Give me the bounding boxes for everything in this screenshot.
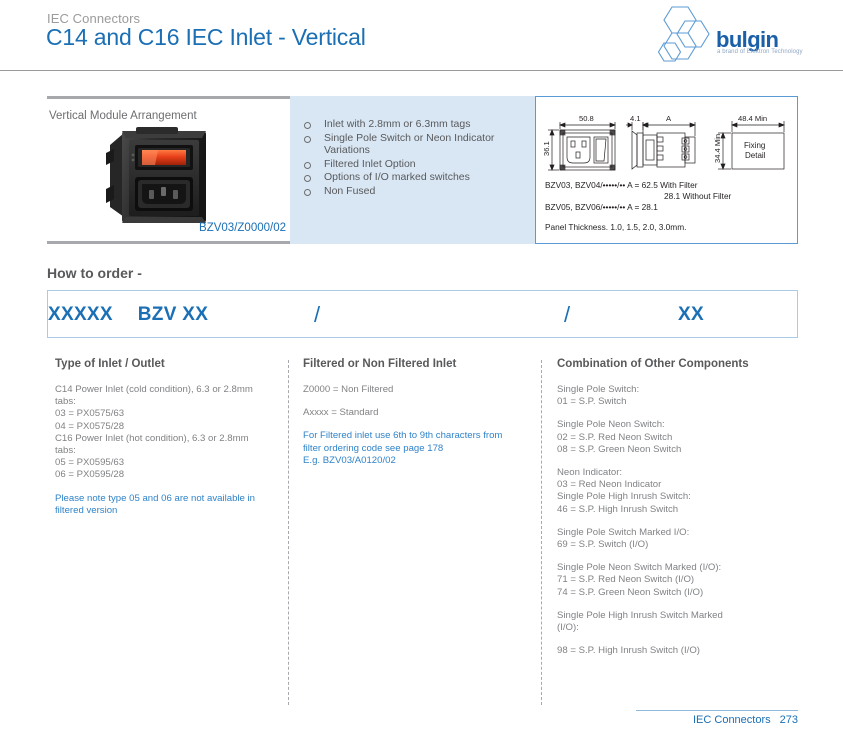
order-segment-filter: XXXXX <box>48 291 113 339</box>
fixing-detail-line2: Detail <box>745 151 766 160</box>
drawing-note-4: Panel Thickness. 1.0, 1.5, 2.0, 3.0mm. <box>545 222 686 232</box>
features-panel: Inlet with 2.8mm or 6.3mm tags Single Po… <box>290 96 535 244</box>
product-panel: Vertical Module Arrangement <box>47 96 290 244</box>
footer-page-number: 273 <box>780 714 798 726</box>
circle-bullet-icon <box>304 122 311 129</box>
dim-depth-label: A <box>666 114 672 123</box>
column-block: 98 = S.P. High Inrush Switch (I/O) <box>557 645 807 657</box>
order-separator-1: / <box>298 291 336 339</box>
features-list: Inlet with 2.8mm or 6.3mm tags Single Po… <box>304 118 524 199</box>
column-title: Filtered or Non Filtered Inlet <box>303 358 533 370</box>
dim-cutout-width-label: 48.4 Min <box>738 114 767 123</box>
column-title: Combination of Other Components <box>557 358 807 370</box>
column-block: Neon Indicator: 03 = Red Neon Indicator … <box>557 467 807 516</box>
header-divider <box>0 70 843 71</box>
column-block: C14 Power Inlet (cold condition), 6.3 or… <box>55 384 277 482</box>
how-to-order-heading: How to order - <box>47 265 142 281</box>
hexagon-logo-icon <box>655 5 717 67</box>
column-filter-type: Filtered or Non Filtered Inlet Z0000 = N… <box>303 358 533 478</box>
column-note: For Filtered inlet use 6th to 9th charac… <box>303 430 533 467</box>
dim-flange-label: 4.1 <box>630 114 641 123</box>
column-inlet-type: Type of Inlet / Outlet C14 Power Inlet (… <box>55 358 277 528</box>
technical-drawing-panel: 50.8 36.1 4.1 A 48.4 Min 34.4 Min Fixing… <box>535 96 798 244</box>
brand-logo: bulgin a brand of Elektron Technology <box>655 5 805 67</box>
feature-label: Inlet with 2.8mm or 6.3mm tags <box>324 118 514 131</box>
list-item: Non Fused <box>304 185 524 198</box>
circle-bullet-icon <box>304 175 311 182</box>
drawing-note-3: BZV05, BZV06/•••••/•• A = 28.1 <box>545 202 658 212</box>
feature-label: Single Pole Switch or Neon Indicator Var… <box>324 132 514 157</box>
list-item: Filtered Inlet Option <box>304 158 524 171</box>
dim-height-label: 36.1 <box>542 141 551 156</box>
column-divider-2 <box>541 360 543 705</box>
feature-label: Non Fused <box>324 185 514 198</box>
list-item: Single Pole Switch or Neon Indicator Var… <box>304 132 524 157</box>
order-segment-components: XX <box>586 291 796 339</box>
feature-label: Options of I/O marked switches <box>324 171 514 184</box>
column-block: Single Pole Neon Switch: 02 = S.P. Red N… <box>557 419 807 456</box>
column-block: Axxxx = Standard <box>303 407 533 419</box>
fixing-detail-line1: Fixing <box>744 141 765 150</box>
column-block: Single Pole Neon Switch Marked (I/O): 71… <box>557 562 807 599</box>
column-block: Z0000 = Non Filtered <box>303 384 533 396</box>
column-block: Single Pole Switch Marked I/O: 69 = S.P.… <box>557 527 807 551</box>
footer-section-label: IEC Connectors <box>693 714 771 726</box>
dim-width-label: 50.8 <box>579 114 594 123</box>
column-divider-1 <box>288 360 290 705</box>
list-item: Options of I/O marked switches <box>304 171 524 184</box>
footer: IEC Connectors273 <box>693 714 798 726</box>
column-block: Single Pole Switch: 01 = S.P. Switch <box>557 384 807 408</box>
drawing-note-2: 28.1 Without Filter <box>664 191 732 201</box>
product-photo <box>102 125 232 230</box>
circle-bullet-icon <box>304 162 311 169</box>
circle-bullet-icon <box>304 136 311 143</box>
column-block: Single Pole High Inrush Switch Marked (I… <box>557 610 807 634</box>
drawing-note-1: BZV03, BZV04/•••••/•• A = 62.5 With Filt… <box>545 180 698 190</box>
list-item: Inlet with 2.8mm or 6.3mm tags <box>304 118 524 131</box>
footer-divider <box>636 710 798 711</box>
order-separator-2: / <box>548 291 586 339</box>
product-part-code: BZV03/Z0000/02 <box>199 222 286 234</box>
dimension-drawing: 50.8 36.1 4.1 A 48.4 Min 34.4 Min Fixing… <box>536 97 797 243</box>
column-title: Type of Inlet / Outlet <box>55 358 277 370</box>
order-code-box: BZV XX / XXXXX / XX <box>47 290 798 338</box>
feature-label: Filtered Inlet Option <box>324 158 514 171</box>
product-panel-title: Vertical Module Arrangement <box>49 110 197 122</box>
dim-cutout-height-label: 34.4 Min <box>713 134 722 163</box>
logo-tagline: a brand of Elektron Technology <box>717 49 803 55</box>
datasheet-page: IEC Connectors C14 and C16 IEC Inlet - V… <box>0 0 843 730</box>
column-note: Please note type 05 and 06 are not avail… <box>55 493 277 517</box>
top-panels: Vertical Module Arrangement <box>0 96 843 246</box>
column-other-components: Combination of Other Components Single P… <box>557 358 807 668</box>
page-title: C14 and C16 IEC Inlet - Vertical <box>46 24 366 51</box>
circle-bullet-icon <box>304 189 311 196</box>
